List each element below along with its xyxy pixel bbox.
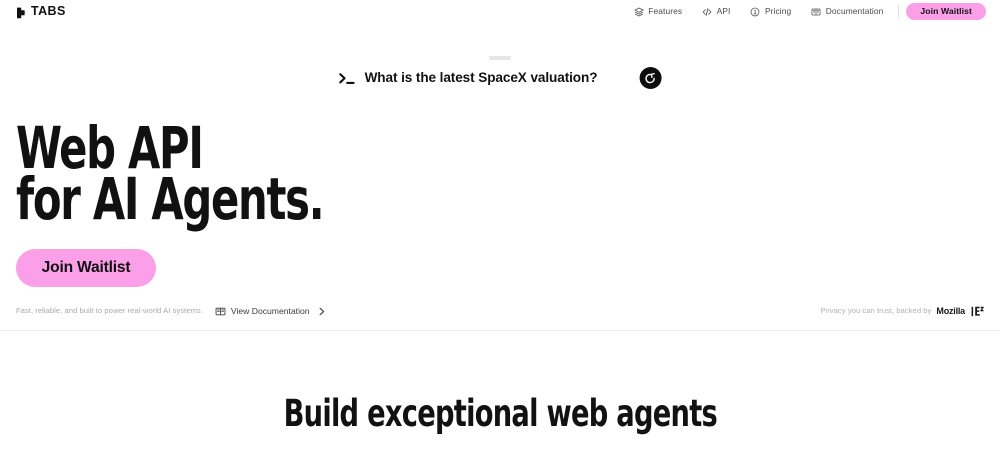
nav-join-waitlist-button[interactable]: Join Waitlist (906, 3, 986, 20)
top-navigation-bar: TABS Features (0, 0, 1000, 23)
refresh-circle-button[interactable] (639, 67, 661, 89)
nav-label-features: Features (648, 7, 682, 15)
nav-item-pricing[interactable]: Pricing (740, 0, 801, 23)
privacy-text: Privacy you can trust, backed by (820, 307, 931, 315)
brand-name: TABS (31, 5, 66, 18)
nav-label-pricing: Pricing (765, 7, 791, 15)
tabs-logo-icon (16, 6, 26, 18)
hero-title-line-2: for AI Agents. (16, 165, 323, 233)
nav-links-group: Features API (624, 0, 986, 23)
open-book-icon (215, 306, 226, 317)
nav-label-api: API (717, 7, 731, 15)
page-title: Web API for AI Agents. (16, 123, 323, 225)
brand-logo[interactable]: TABS (16, 0, 66, 23)
features-heading-text: Build exceptional web agents (283, 395, 716, 432)
nav-item-api[interactable]: API (692, 0, 740, 23)
circle-info-icon (750, 7, 760, 17)
hero-footer-left: Fast, reliable, and built to power real-… (16, 306, 326, 317)
features-section-heading: Build exceptional web agents (0, 395, 1000, 432)
view-documentation-label: View Documentation (231, 307, 310, 316)
hero-join-waitlist-button[interactable]: Join Waitlist (16, 249, 156, 287)
open-book-icon (811, 7, 821, 17)
view-documentation-link[interactable]: View Documentation (215, 306, 326, 317)
landing-page: TABS Features (0, 0, 1000, 453)
panel-drag-handle[interactable] (489, 56, 511, 60)
nav-divider (898, 5, 899, 18)
refresh-circle-icon (644, 72, 657, 85)
prompt-panel: What is the latest SpaceX valuation? (0, 23, 1000, 108)
mozilla-moz-glyph-icon (971, 306, 984, 317)
hero-tagline: Fast, reliable, and built to power real-… (16, 307, 203, 315)
terminal-prompt-icon (339, 71, 356, 86)
chevron-right-icon (318, 307, 326, 316)
nav-item-documentation[interactable]: Documentation (801, 0, 893, 23)
features-section: Build exceptional web agents (0, 331, 1000, 453)
prompt-query-text[interactable]: What is the latest SpaceX valuation? (365, 71, 598, 85)
layers-icon (634, 7, 644, 17)
partner-badge: Privacy you can trust, backed by Mozilla (820, 306, 984, 317)
nav-label-documentation: Documentation (826, 7, 884, 15)
nav-item-features[interactable]: Features (624, 0, 692, 23)
mozilla-wordmark: Mozilla (936, 307, 965, 316)
hero-footer: Fast, reliable, and built to power real-… (16, 303, 984, 319)
hero-section: Web API for AI Agents. Join Waitlist Fas… (0, 108, 1000, 330)
code-brackets-icon (702, 7, 712, 17)
prompt-row: What is the latest SpaceX valuation? (339, 67, 662, 89)
